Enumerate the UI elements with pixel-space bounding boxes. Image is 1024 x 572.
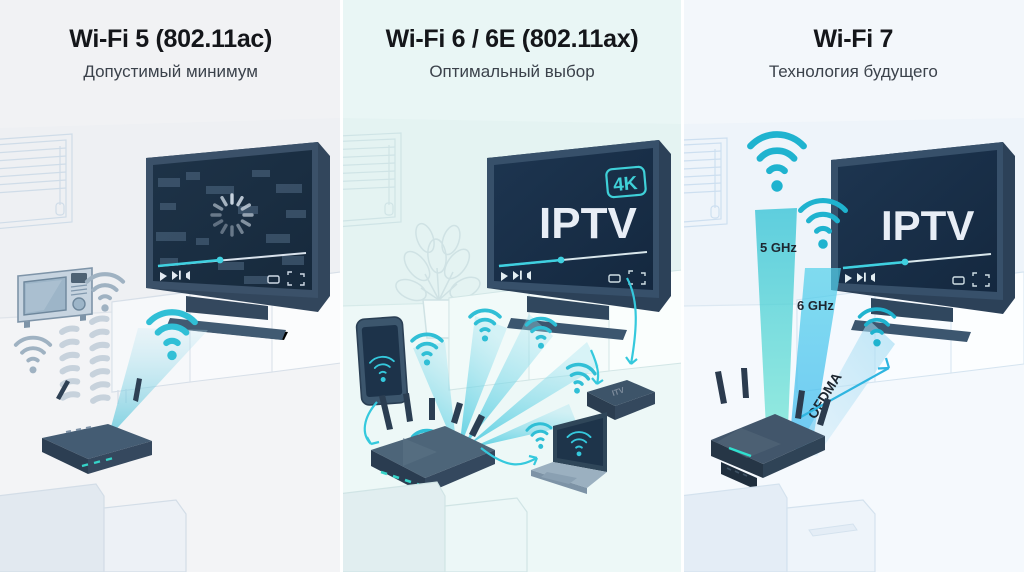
tv-screen-text: IPTV <box>539 199 637 248</box>
panel-wifi7: Wi-Fi 7 Технология будущего <box>683 0 1024 572</box>
smartphone <box>356 317 408 406</box>
divider-2 <box>681 0 684 572</box>
panel-wifi6-scene: IPTV 4K <box>341 0 682 572</box>
panel-wifi6-title: Wi-Fi 6 / 6E (802.11ax) <box>341 26 682 54</box>
panel-wifi7-title: Wi-Fi 7 <box>683 26 1024 54</box>
beam-6ghz-label: 6 GHz <box>797 298 834 313</box>
panel-wifi5-title: Wi-Fi 5 (802.11ac) <box>0 26 341 54</box>
panel-wifi5-scene <box>0 0 341 572</box>
beam-5ghz-label: 5 GHz <box>760 240 797 255</box>
panel-wifi5-subtitle: Допустимый минимум <box>0 63 341 82</box>
panel-wifi5-heading: Wi-Fi 5 (802.11ac) Допустимый минимум <box>0 26 341 81</box>
panel-wifi7-heading: Wi-Fi 7 Технология будущего <box>683 26 1024 81</box>
tv-screen-text: IPTV <box>881 202 974 249</box>
badge-4k-text: 4K <box>613 173 639 196</box>
progress-knob <box>217 257 224 264</box>
panel-wifi7-scene: IPTV <box>683 0 1024 572</box>
progress-knob <box>901 259 908 266</box>
panel-wifi6: Wi-Fi 6 / 6E (802.11ax) Оптимальный выбо… <box>341 0 682 572</box>
progress-knob <box>558 257 565 264</box>
panel-wifi6-heading: Wi-Fi 6 / 6E (802.11ax) Оптимальный выбо… <box>341 26 682 81</box>
panel-wifi5: Wi-Fi 5 (802.11ac) Допустимый минимум <box>0 0 341 572</box>
infographic-root: Wi-Fi 5 (802.11ac) Допустимый минимум <box>0 0 1024 572</box>
panel-wifi7-subtitle: Технология будущего <box>683 63 1024 82</box>
panel-wifi6-subtitle: Оптимальный выбор <box>341 63 682 82</box>
divider-1 <box>340 0 343 572</box>
